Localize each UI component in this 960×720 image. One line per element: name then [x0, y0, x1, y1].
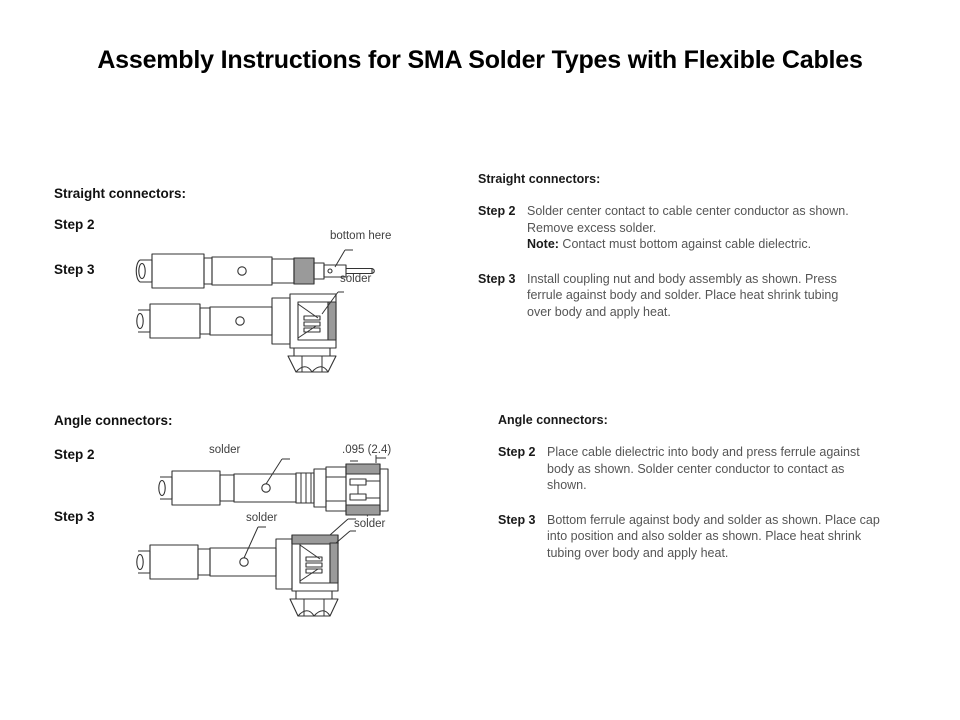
angle-text-heading: Angle connectors: — [498, 413, 898, 427]
angle-connector-text-panel: Angle connectors: Step 2 Place cable die… — [498, 413, 898, 561]
step-body: Bottom ferrule against body and solder a… — [547, 512, 898, 562]
step-key: Step 3 — [498, 512, 547, 529]
straight-step3-figure — [132, 286, 382, 376]
angle-step3-figure — [132, 531, 412, 623]
step-line: Remove excess solder. — [527, 220, 878, 237]
step-line: over body and apply heat. — [527, 304, 878, 321]
angle-step-2-row: Step 2 Place cable dielectric into body … — [498, 444, 898, 494]
straight-text-heading: Straight connectors: — [478, 172, 878, 186]
straight-step2-label: Step 2 — [54, 217, 95, 232]
angle-step3-label: Step 3 — [54, 509, 95, 524]
page-title: Assembly Instructions for SMA Solder Typ… — [0, 46, 960, 75]
step-line: into position and also solder as shown. … — [547, 528, 898, 545]
step-body: Place cable dielectric into body and pre… — [547, 444, 898, 494]
note-lead: Note: — [527, 237, 559, 251]
angle-connector-drawing-panel: Angle connectors: Step 2 Step 3 solder .… — [54, 413, 424, 613]
step-line: ferrule against body and solder. Place h… — [527, 287, 878, 304]
step-line: tubing over body and apply heat. — [547, 545, 898, 562]
step-key: Step 2 — [498, 444, 547, 461]
angle-step-3-row: Step 3 Bottom ferrule against body and s… — [498, 512, 898, 562]
straight-drawing-heading: Straight connectors: — [54, 186, 186, 201]
step-line: Place cable dielectric into body and pre… — [547, 444, 898, 461]
step-body: Solder center contact to cable center co… — [527, 203, 878, 253]
angle-step2-figure — [154, 461, 414, 523]
step-line: Solder center contact to cable center co… — [527, 203, 878, 220]
step-line: Bottom ferrule against body and solder a… — [547, 512, 898, 529]
angle-step2-label: Step 2 — [54, 447, 95, 462]
step-line: Note: Contact must bottom against cable … — [527, 236, 878, 253]
step-line: body as shown. Solder center conductor t… — [547, 461, 898, 478]
step-body: Install coupling nut and body assembly a… — [527, 271, 878, 321]
callout-dimension-095: .095 (2.4) — [342, 444, 391, 456]
straight-connector-text-panel: Straight connectors: Step 2 Solder cente… — [478, 172, 878, 320]
step-line: shown. — [547, 477, 898, 494]
angle-drawing-heading: Angle connectors: — [54, 413, 173, 428]
note-text: Contact must bottom against cable dielec… — [559, 237, 811, 251]
callout-solder-angle-step2: solder — [209, 444, 240, 456]
step-key: Step 3 — [478, 271, 527, 288]
step-key: Step 2 — [478, 203, 527, 220]
step-line: Install coupling nut and body assembly a… — [527, 271, 878, 288]
straight-step3-label: Step 3 — [54, 262, 95, 277]
straight-step-3-row: Step 3 Install coupling nut and body ass… — [478, 271, 878, 321]
straight-connector-drawing-panel: Straight connectors: Step 2 Step 3 botto… — [54, 186, 414, 376]
straight-step-2-row: Step 2 Solder center contact to cable ce… — [478, 203, 878, 253]
